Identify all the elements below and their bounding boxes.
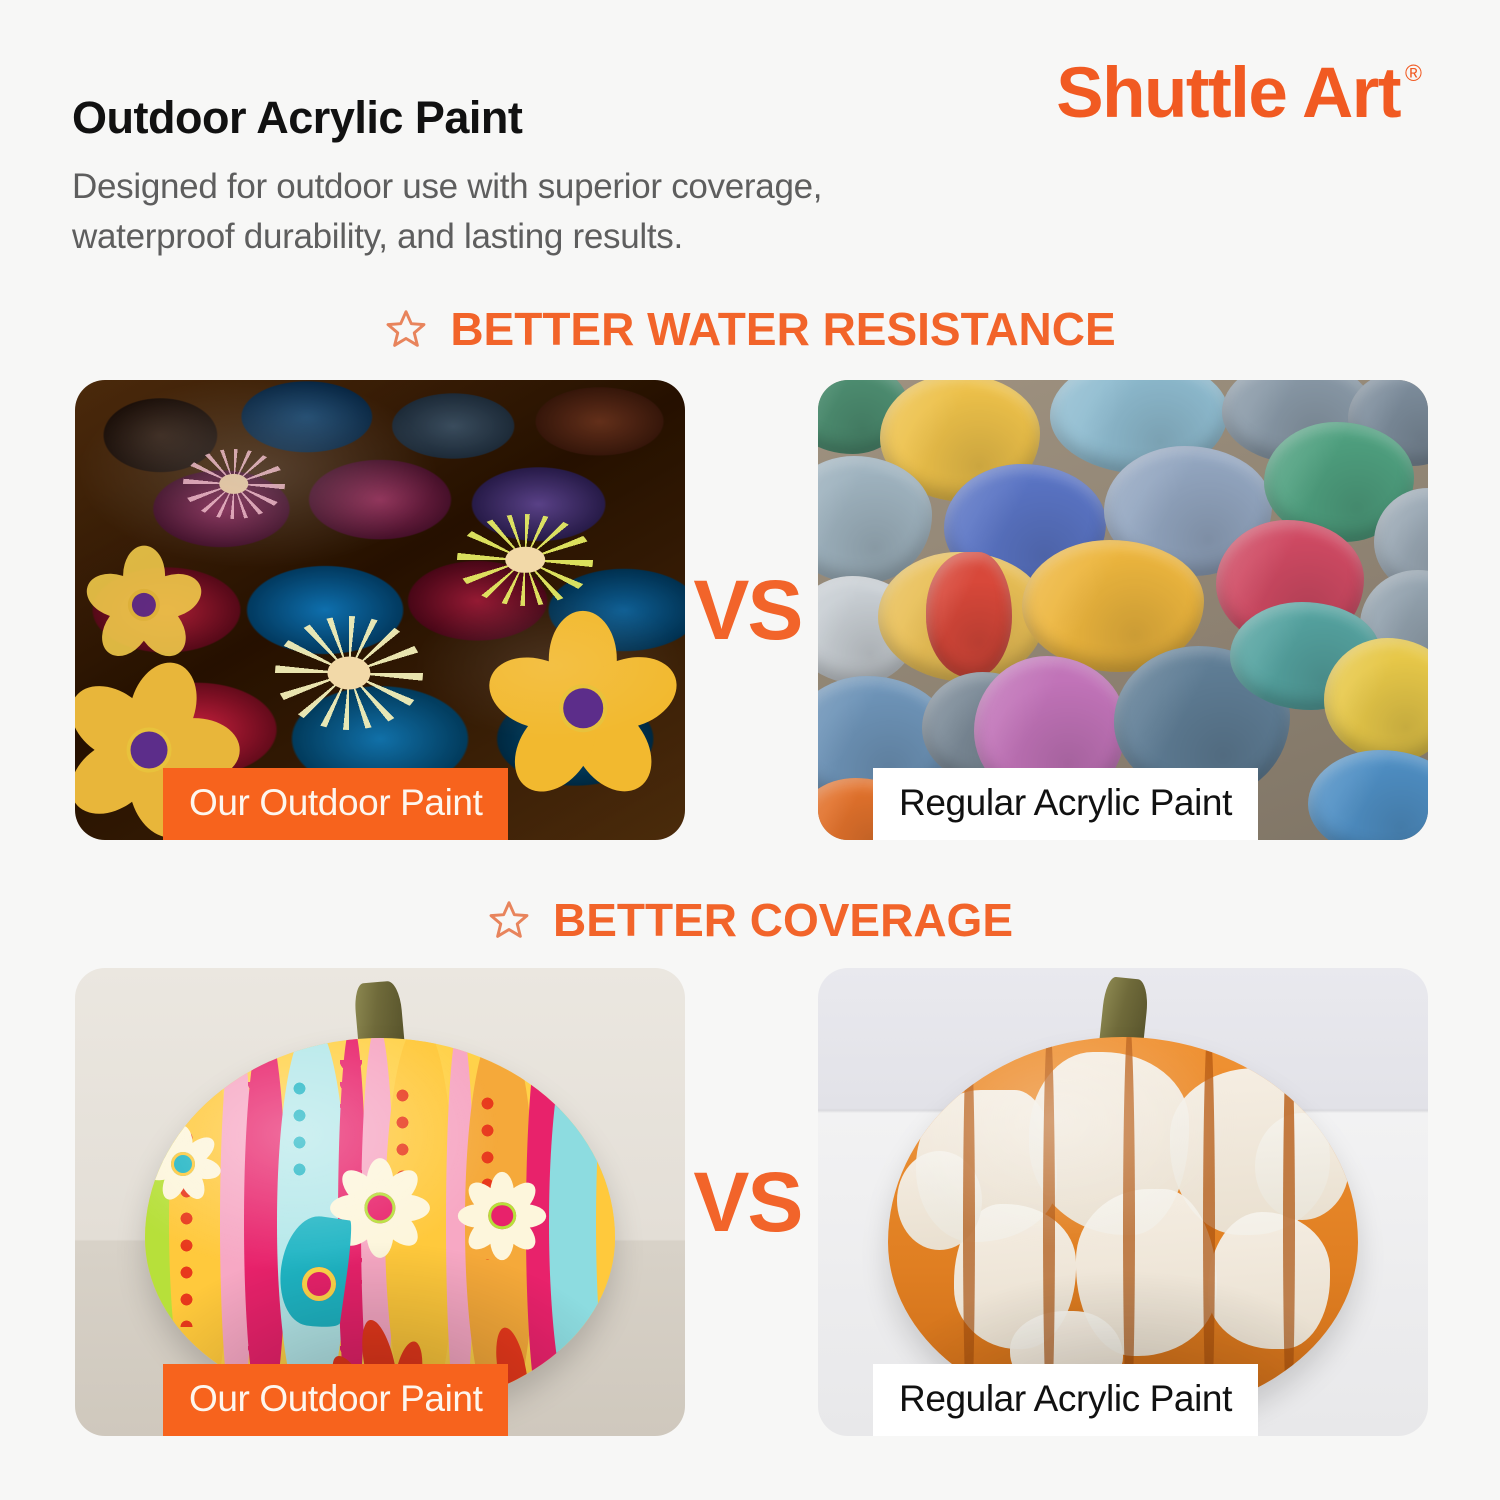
- registered-trademark-icon: ®: [1405, 62, 1422, 85]
- section-heading-water-resistance: BETTER WATER RESISTANCE: [0, 302, 1500, 356]
- vs-label: VS: [693, 568, 801, 652]
- brand-name: Shuttle Art: [1056, 58, 1400, 129]
- page-subtitle: Designed for outdoor use with superior c…: [72, 162, 822, 261]
- section-heading-coverage: BETTER COVERAGE: [0, 893, 1500, 947]
- section-title: BETTER COVERAGE: [553, 893, 1013, 947]
- page-title: Outdoor Acrylic Paint: [72, 92, 522, 144]
- badge-our-outdoor-paint: Our Outdoor Paint: [163, 768, 508, 840]
- comparison-row-coverage: Our Outdoor Paint VS: [0, 968, 1500, 1436]
- comparison-row-water-resistance: Our Outdoor Paint VS: [0, 380, 1500, 840]
- vs-label: VS: [693, 1160, 801, 1244]
- section-title: BETTER WATER RESISTANCE: [450, 302, 1115, 356]
- header: Outdoor Acrylic Paint Designed for outdo…: [0, 0, 1500, 290]
- card-regular-stones: Regular Acrylic Paint: [818, 380, 1428, 840]
- brand-logo: Shuttle Art ®: [1056, 58, 1422, 129]
- star-outline-icon: [487, 898, 531, 942]
- badge-regular-acrylic-paint: Regular Acrylic Paint: [873, 768, 1258, 840]
- card-regular-pumpkin: Regular Acrylic Paint: [818, 968, 1428, 1436]
- card-ours-stones: Our Outdoor Paint: [75, 380, 685, 840]
- star-outline-icon: [384, 307, 428, 351]
- badge-regular-acrylic-paint: Regular Acrylic Paint: [873, 1364, 1258, 1436]
- badge-our-outdoor-paint: Our Outdoor Paint: [163, 1364, 508, 1436]
- card-ours-pumpkin: Our Outdoor Paint: [75, 968, 685, 1436]
